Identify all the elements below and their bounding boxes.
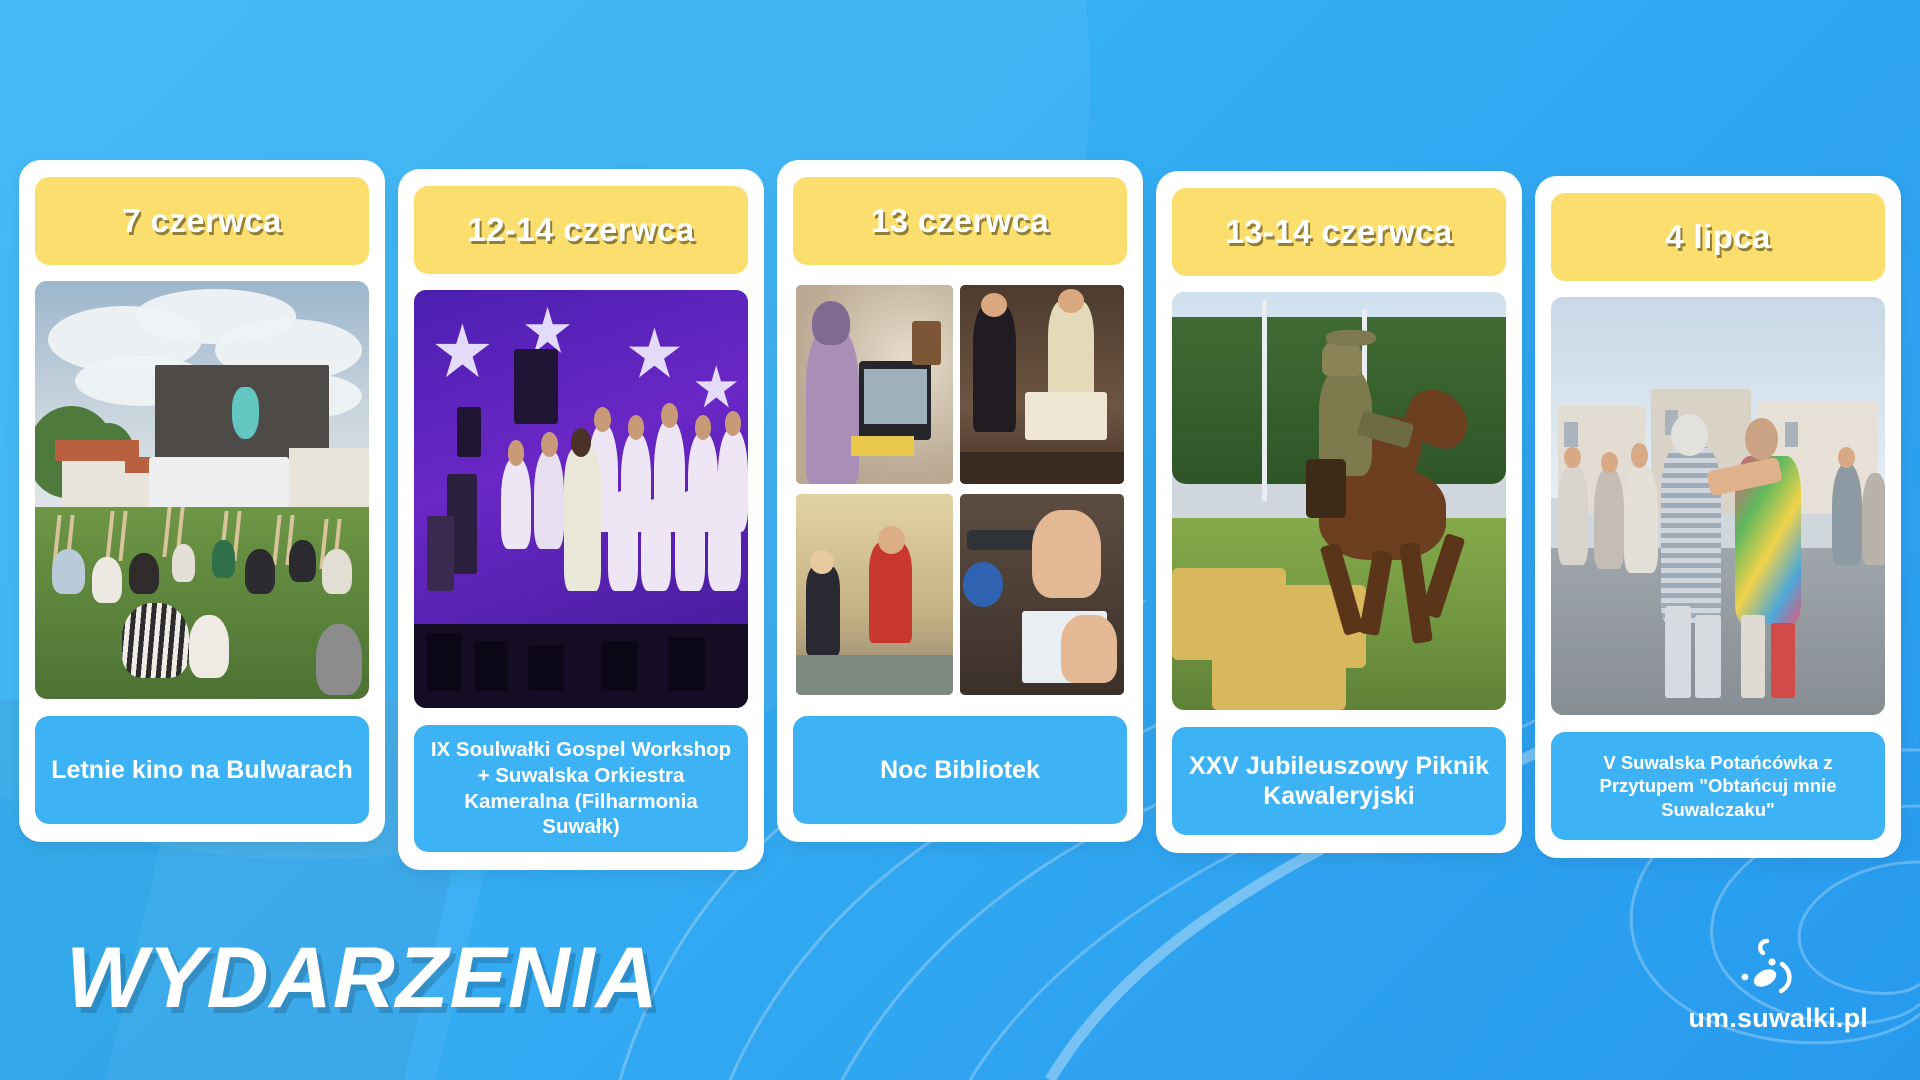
event-date-text: 4 lipca bbox=[1665, 218, 1771, 256]
poster-footer-title: WYDARZENIA bbox=[66, 929, 659, 1028]
event-date-badge: 12-14 czerwca bbox=[414, 186, 748, 274]
collage-photo-top-left bbox=[796, 285, 953, 484]
event-title-badge: Letnie kino na Bulwarach bbox=[35, 716, 369, 824]
events-poster: 7 czerwca bbox=[0, 0, 1920, 1080]
library-night-collage-photo bbox=[793, 281, 1127, 699]
collage-photo-bottom-left bbox=[796, 494, 953, 695]
event-date-badge: 13 czerwca bbox=[793, 177, 1127, 265]
collage-photo-top-right bbox=[960, 285, 1124, 484]
outdoor-dance-party-photo bbox=[1551, 297, 1885, 715]
event-title-badge: IX Soulwałki Gospel Workshop + Suwalska … bbox=[414, 725, 748, 852]
event-date-badge: 4 lipca bbox=[1551, 193, 1885, 281]
suwalki-logo[interactable]: um.suwalki.pl bbox=[1688, 935, 1868, 1034]
event-card[interactable]: 12-14 czerwca bbox=[398, 169, 764, 870]
event-title-badge: Noc Bibliotek bbox=[793, 716, 1127, 824]
event-card[interactable]: 13 czerwca bbox=[777, 160, 1143, 842]
event-cards-row: 7 czerwca bbox=[0, 160, 1920, 870]
event-title-badge: XXV Jubileuszowy Piknik Kawaleryjski bbox=[1172, 727, 1506, 835]
collage-photo-bottom-right bbox=[960, 494, 1124, 695]
event-date-text: 13-14 czerwca bbox=[1225, 213, 1452, 251]
gospel-choir-concert-photo bbox=[414, 290, 748, 708]
suwalki-logo-mark-icon bbox=[1718, 935, 1838, 1001]
event-date-text: 7 czerwca bbox=[122, 202, 282, 240]
event-title-text: IX Soulwałki Gospel Workshop + Suwalska … bbox=[428, 737, 734, 840]
event-card[interactable]: 4 lipca bbox=[1535, 176, 1901, 858]
event-date-badge: 13-14 czerwca bbox=[1172, 188, 1506, 276]
event-title-text: XXV Jubileuszowy Piknik Kawaleryjski bbox=[1186, 751, 1492, 812]
event-card[interactable]: 7 czerwca bbox=[19, 160, 385, 842]
event-date-text: 13 czerwca bbox=[871, 202, 1049, 240]
event-date-text: 12-14 czerwca bbox=[467, 211, 694, 249]
event-title-badge: V Suwalska Potańcówka z Przytupem "Obtań… bbox=[1551, 732, 1885, 840]
outdoor-cinema-photo bbox=[35, 281, 369, 699]
event-card[interactable]: 13-14 czerwca bbox=[1156, 171, 1522, 853]
event-title-text: V Suwalska Potańcówka z Przytupem "Obtań… bbox=[1565, 751, 1871, 821]
event-title-text: Noc Bibliotek bbox=[880, 755, 1040, 786]
event-date-badge: 7 czerwca bbox=[35, 177, 369, 265]
cavalry-picnic-horse-photo bbox=[1172, 292, 1506, 710]
suwalki-logo-text: um.suwalki.pl bbox=[1688, 1003, 1868, 1034]
event-title-text: Letnie kino na Bulwarach bbox=[51, 755, 352, 786]
